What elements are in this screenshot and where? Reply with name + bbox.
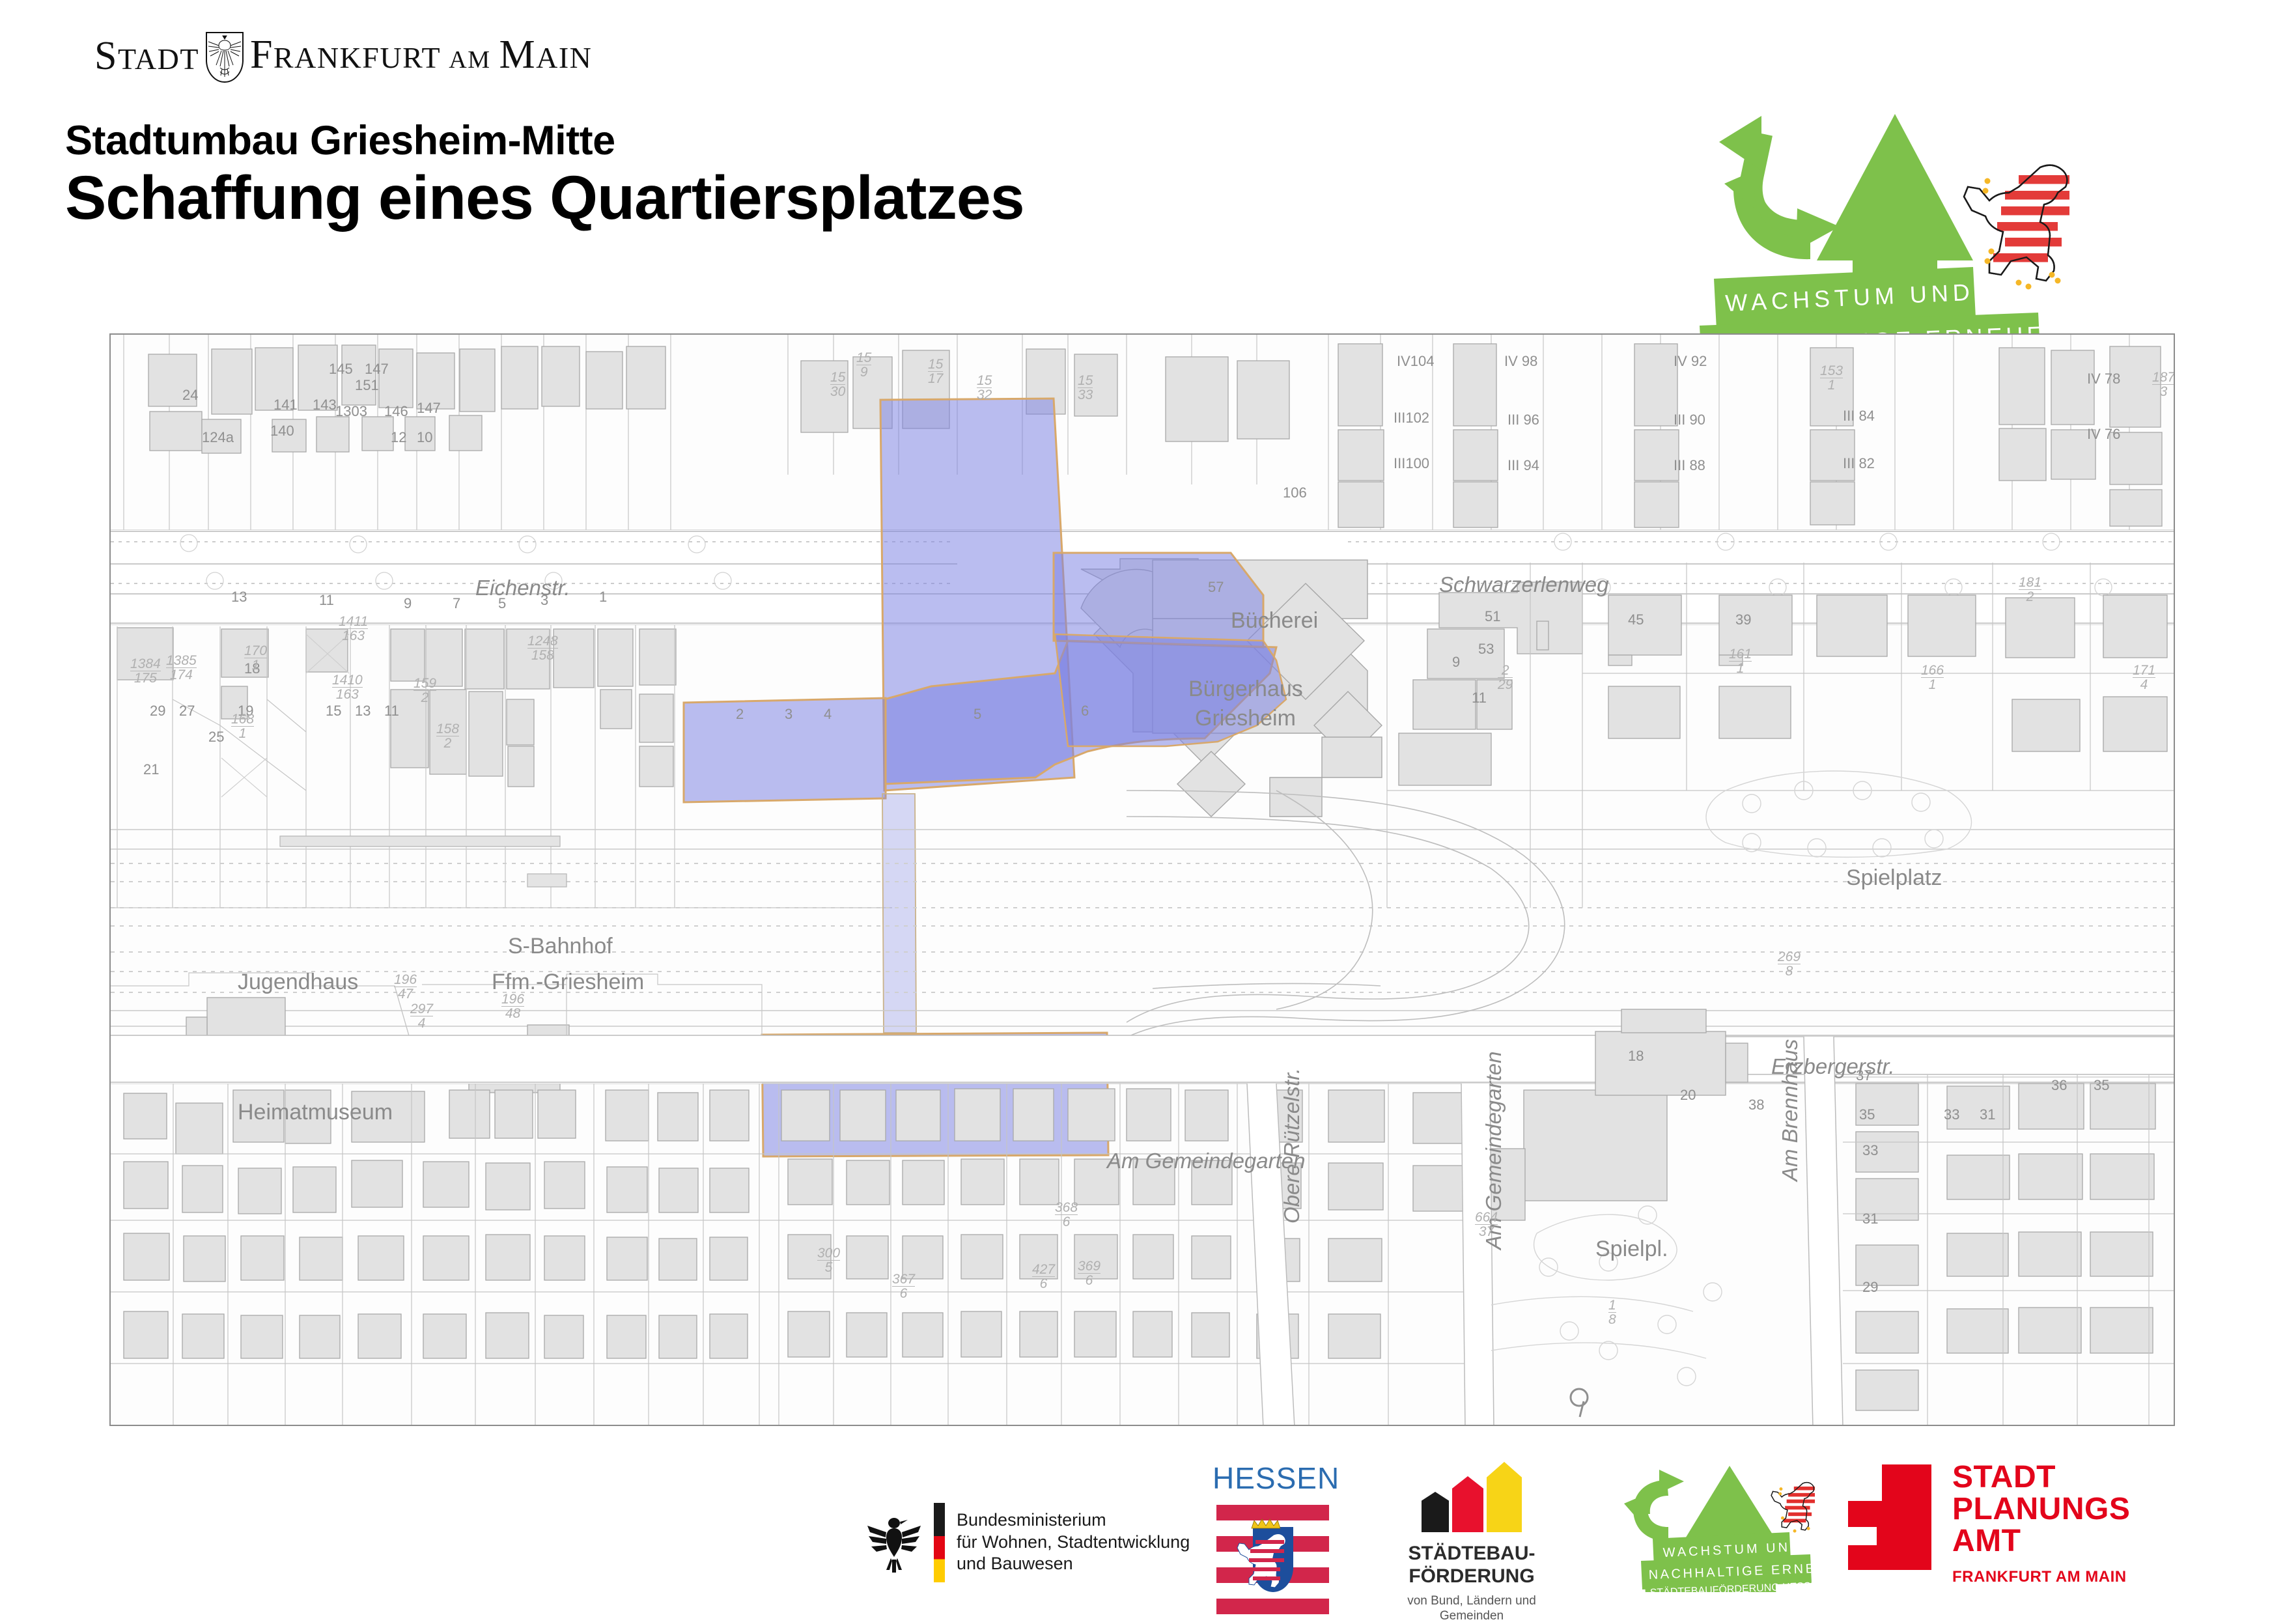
parcel-number: 1701: [244, 644, 267, 672]
map-vector-layer: [111, 335, 2175, 1426]
bundesministerium-label: Bundesministerium für Wohnen, Stadtentwi…: [957, 1509, 1190, 1575]
parcel-denominator: 8: [1778, 964, 1801, 978]
hessen-flag-icon: [1213, 1501, 1333, 1617]
parcel-number: 19647: [394, 973, 417, 1001]
parcel-numerator: 269: [1778, 949, 1801, 964]
footer-logo-bar: Bundesministerium für Wohnen, Stadtentwi…: [0, 1436, 2285, 1615]
parcel-numerator: 171: [2133, 663, 2155, 678]
spa-line-3: AMT: [1952, 1524, 2021, 1558]
parcel-number: 2698: [1778, 950, 1801, 978]
parcel-number: 3696: [1078, 1259, 1100, 1287]
house-number: 151: [355, 377, 379, 394]
house-number: 3: [785, 706, 792, 723]
bundesadler-icon: [866, 1511, 922, 1574]
house-number: 11: [384, 703, 399, 720]
parcel-denominator: 2: [2019, 589, 2041, 604]
parcel-denominator: 6: [1032, 1276, 1055, 1291]
parcel-number: 1611: [1729, 647, 1752, 675]
house-number: 146: [384, 403, 408, 420]
parcel-denominator: 1: [1729, 661, 1752, 675]
house-red-icon: [1452, 1476, 1483, 1532]
staedtebau-line-1: STÄDTEBAU-: [1409, 1543, 1535, 1564]
house-number: 13: [355, 703, 371, 720]
house-number: IV 76: [2087, 426, 2120, 443]
house-number: 35: [2094, 1077, 2109, 1094]
parcel-number: 1533: [1078, 374, 1093, 402]
house-number: 15: [326, 703, 341, 720]
house-number: 20: [1680, 1087, 1696, 1104]
parcel-number: 1873: [2152, 371, 2175, 399]
house-number: 25: [208, 729, 224, 746]
house-number: 1: [599, 589, 607, 606]
house-number: 141: [273, 397, 298, 413]
staedtebau-sub-1: von Bund, Ländern und: [1407, 1594, 1536, 1608]
house-number: 6: [1081, 703, 1089, 720]
parcel-denominator: 5: [817, 1260, 840, 1274]
house-number: 147: [365, 361, 389, 378]
spa-line-2: PLANUNGS: [1952, 1492, 2130, 1526]
parcel-numerator: 297: [410, 1001, 433, 1016]
house-number: 2: [736, 706, 744, 723]
house-number: III 94: [1507, 457, 1539, 474]
parcel-numerator: 15: [977, 373, 992, 388]
house-yellow-icon: [1487, 1462, 1522, 1532]
parcel-numerator: 1411: [339, 614, 368, 629]
staedtebau-sub-2: Gemeinden: [1440, 1609, 1504, 1623]
parcel-denominator: 8: [1608, 1312, 1616, 1326]
parcel-number: 159: [856, 351, 871, 379]
house-number: 140: [270, 423, 294, 440]
parcel-denominator: 3: [2152, 384, 2175, 399]
parcel-number: 3676: [892, 1272, 915, 1300]
house-number: III 90: [1674, 412, 1705, 428]
parcel-denominator: 1: [231, 726, 254, 740]
house-number: IV104: [1397, 353, 1435, 370]
house-number: 29: [150, 703, 165, 720]
parcel-numerator: 153: [1820, 363, 1843, 378]
staedtebaufoerderung-logo: STÄDTEBAU- FÖRDERUNG von Bund, Ländern u…: [1384, 1436, 1560, 1615]
house-number: 3: [540, 592, 548, 609]
house-number: 21: [143, 761, 159, 778]
parcel-denominator: 30: [830, 384, 845, 399]
hessen-logo: HESSEN: [1213, 1436, 1333, 1615]
house-number: 27: [179, 703, 195, 720]
parcel-number: 1681: [231, 712, 254, 740]
frankfurt-eagle-crest-icon: [204, 31, 245, 83]
house-number: 147: [417, 400, 441, 417]
parcel-number: 2974: [410, 1002, 433, 1030]
staedtebau-wordmark: STÄDTEBAU- FÖRDERUNG: [1384, 1543, 1560, 1588]
parcel-denominator: 174: [166, 667, 197, 682]
parcel-numerator: 664: [1475, 1210, 1498, 1225]
house-number: 57: [1208, 579, 1224, 596]
parcel-numerator: 369: [1078, 1259, 1100, 1274]
house-number: IV 98: [1504, 353, 1537, 370]
house-number: 12: [391, 429, 406, 446]
cadastral-map[interactable]: Eichenstr.SchwarzerlenwegErzbergerstr.Am…: [109, 333, 2175, 1426]
parcel-number: 1530: [830, 371, 845, 399]
parcel-denominator: 6: [1055, 1214, 1078, 1229]
house-number: 18: [1628, 1048, 1644, 1065]
house-number: IV 78: [2087, 371, 2120, 387]
parcel-number: 4276: [1032, 1263, 1055, 1291]
house-number: 11: [1472, 690, 1487, 707]
house-number: 29: [1862, 1279, 1878, 1296]
house-number: 31: [1980, 1106, 1995, 1123]
house-number: 37: [1856, 1067, 1871, 1084]
parcel-number: 18: [1608, 1298, 1616, 1326]
house-number: 9: [404, 595, 412, 612]
bmwsb-line-1: Bundesministerium: [957, 1510, 1106, 1530]
city-logo-word-stadt: STADT: [94, 41, 199, 74]
stadt-frankfurt-logo: STADT FRANKFURT AM MAIN: [94, 31, 592, 83]
parcel-denominator: 2: [436, 736, 459, 750]
parcel-denominator: 33: [1078, 387, 1093, 402]
house-number: 45: [1628, 611, 1644, 628]
house-number: 5: [498, 595, 506, 612]
house-number: IV 92: [1674, 353, 1707, 370]
parcel-denominator: 4: [410, 1016, 433, 1030]
parcel-denominator: 163: [339, 628, 368, 643]
parcel-number: 1385174: [166, 654, 197, 682]
document-header: STADT FRANKFURT AM MAIN Stadtumbau Gries: [0, 0, 2285, 306]
house-number: 145: [329, 361, 353, 378]
parcel-denominator: 47: [394, 987, 417, 1001]
parcel-numerator: 2: [1502, 663, 1509, 678]
parcel-denominator: 17: [928, 371, 943, 385]
parcel-denominator: 175: [130, 671, 161, 685]
parcel-numerator: 15: [928, 357, 943, 372]
parcel-denominator: 6: [1078, 1273, 1100, 1287]
parcel-numerator: 170: [244, 643, 267, 658]
spa-line-1: STADT: [1952, 1460, 2056, 1494]
parcel-denominator: 1: [1820, 378, 1843, 392]
house-number: 5: [974, 706, 981, 723]
house-number: 11: [319, 592, 334, 609]
house-number: 51: [1485, 608, 1500, 625]
bmwsb-line-3: und Bauwesen: [957, 1554, 1073, 1573]
parcel-numerator: 181: [2019, 575, 2041, 590]
page-title: Schaffung eines Quartiersplatzes: [65, 163, 1024, 234]
house-number: 53: [1478, 641, 1494, 658]
parcel-numerator: 196: [501, 992, 524, 1007]
parcel-number: 1384175: [130, 657, 161, 685]
house-number: 35: [1859, 1106, 1875, 1123]
parcel-denominator: 32: [977, 387, 992, 402]
spa-subline: FRANKFURT AM MAIN: [1952, 1568, 2130, 1586]
parcel-numerator: 1384: [130, 656, 161, 671]
stadtplanungsamt-wordmark: STADT PLANUNGS AMT FRANKFURT AM MAIN: [1952, 1462, 2130, 1586]
parcel-numerator: 15: [830, 370, 845, 385]
house-number: III 82: [1843, 455, 1875, 472]
german-flag-bar-icon: [934, 1503, 945, 1582]
parcel-number: 1582: [436, 722, 459, 750]
stadtplanungsamt-mark-icon: [1843, 1462, 1934, 1573]
parcel-number: 1531: [1820, 364, 1843, 392]
parcel-denominator: 163: [332, 687, 363, 701]
house-number: 13: [231, 589, 247, 606]
parcel-denominator: 1: [244, 658, 267, 672]
parcel-number: 19648: [501, 992, 524, 1020]
parcel-number: 3005: [817, 1246, 840, 1274]
parcel-numerator: 15: [1078, 373, 1093, 388]
parcel-number: 66437: [1475, 1211, 1498, 1239]
parcel-number: 1812: [2019, 576, 2041, 604]
parcel-numerator: 427: [1032, 1262, 1055, 1277]
parcel-number: 1532: [977, 374, 992, 402]
parcel-numerator: 367: [892, 1272, 915, 1287]
document-subtitle: Stadtumbau Griesheim-Mitte: [65, 117, 615, 164]
parcel-numerator: 158: [436, 721, 459, 736]
staedtebau-line-2: FÖRDERUNG: [1409, 1565, 1534, 1587]
parcel-number: 1411163: [339, 615, 368, 643]
parcel-numerator: 161: [1729, 647, 1752, 662]
parcel-numerator: 159: [414, 676, 436, 691]
house-number: 38: [1748, 1097, 1764, 1113]
house-number: 36: [2051, 1077, 2067, 1094]
house-number: 33: [1862, 1142, 1878, 1159]
staedtebau-subline: von Bund, Ländern und Gemeinden: [1384, 1594, 1560, 1624]
bmwsb-line-2: für Wohnen, Stadtentwicklung: [957, 1532, 1190, 1552]
parcel-denominator: 9: [856, 365, 871, 379]
parcel-numerator: 1385: [166, 653, 197, 668]
parcel-denominator: 29: [1498, 677, 1513, 692]
house-black-icon: [1422, 1492, 1449, 1532]
house-number: III100: [1394, 455, 1429, 472]
parcel-denominator: 37: [1475, 1224, 1498, 1239]
house-number: 33: [1944, 1106, 1959, 1123]
parcel-denominator: 4: [2133, 677, 2155, 692]
parcel-numerator: 1: [1608, 1298, 1616, 1313]
parcel-numerator: 368: [1055, 1200, 1078, 1215]
parcel-denominator: 2: [414, 690, 436, 705]
stadtplanungsamt-logo: STADT PLANUNGS AMT FRANKFURT AM MAIN: [1843, 1436, 2194, 1615]
parcel-numerator: 168: [231, 712, 254, 727]
hessen-wordmark: HESSEN: [1213, 1461, 1333, 1496]
house-number: 7: [453, 595, 460, 612]
house-number: 4: [824, 706, 832, 723]
house-number: 24: [182, 387, 198, 404]
house-number: 31: [1862, 1211, 1878, 1227]
parcel-number: 229: [1498, 664, 1513, 692]
house-number: III 88: [1674, 457, 1705, 474]
parcel-numerator: 300: [817, 1246, 840, 1261]
parcel-numerator: 196: [394, 972, 417, 987]
house-number: 9: [1452, 654, 1460, 671]
house-number: 39: [1735, 611, 1751, 628]
parcel-number: 1592: [414, 677, 436, 705]
house-number: 1303: [335, 403, 367, 420]
house-number: 124a: [202, 429, 234, 446]
bundesministerium-logo: Bundesministerium für Wohnen, Stadtentwi…: [866, 1436, 1179, 1615]
parcel-denominator: 158: [527, 648, 558, 662]
parcel-denominator: 48: [501, 1006, 524, 1020]
parcel-number: 1661: [1921, 664, 1944, 692]
parcel-numerator: 166: [1921, 663, 1944, 678]
parcel-number: 1517: [928, 357, 943, 385]
city-logo-word-frankfurt: FRANKFURT AM MAIN: [250, 40, 592, 75]
parcel-number: 1248158: [527, 634, 558, 662]
parcel-number: 1410163: [332, 673, 363, 701]
house-number: 106: [1283, 484, 1307, 501]
house-number: III102: [1394, 410, 1429, 427]
parcel-numerator: 187: [2152, 370, 2175, 385]
staedtebau-houses-icon: [1384, 1467, 1560, 1532]
house-number: 10: [417, 429, 432, 446]
wachstum-logo-small: WACHSTUM UND NACHHALTIGE ERNEUERUNG STÄD…: [1582, 1436, 1843, 1615]
parcel-denominator: 6: [892, 1286, 915, 1300]
house-number: III 84: [1843, 408, 1875, 425]
parcel-denominator: 1: [1921, 677, 1944, 692]
parcel-numerator: 15: [856, 350, 871, 365]
house-number: 143: [313, 397, 337, 413]
parcel-numerator: 1248: [527, 634, 558, 649]
parcel-number: 3686: [1055, 1201, 1078, 1229]
house-number: III 96: [1507, 412, 1539, 428]
parcel-numerator: 1410: [332, 673, 363, 688]
parcel-number: 1714: [2133, 664, 2155, 692]
